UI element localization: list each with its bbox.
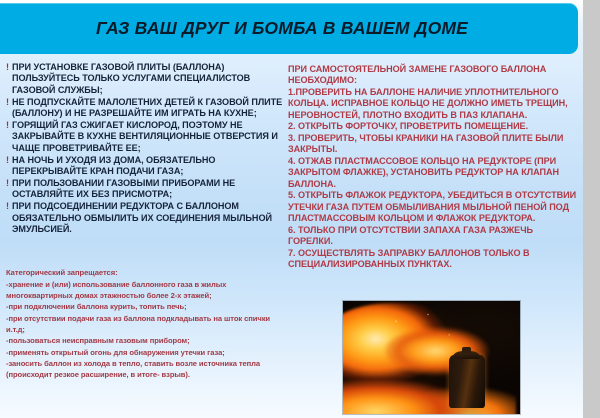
exclamation-bullet-icon: ! <box>6 97 9 108</box>
slide-canvas: ГАЗ ВАШ ДРУГ И БОМБА В ВАШЕМ ДОМЕ !ПРИ У… <box>0 0 583 418</box>
exclamation-bullet-icon: ! <box>6 62 9 73</box>
safety-rule-item: !НЕ ПОДПУСКАЙТЕ МАЛОЛЕТНИХ ДЕТЕЙ К ГАЗОВ… <box>6 97 284 120</box>
prohibition-item: -заносить баллон из холода в тепло, став… <box>6 359 282 381</box>
safety-rule-text: ПРИ ПОЛЬЗОВАНИИ ГАЗОВЫМИ ПРИБОРАМИ НЕ ОС… <box>12 178 235 199</box>
replacement-step-item: 4. ОТЖАВ ПЛАСТМАССОВОЕ КОЛЬЦО НА РЕДУКТО… <box>288 156 578 191</box>
prohibitions-block: Категорический запрещается: -хранение и … <box>6 268 282 381</box>
safety-rule-text: НА НОЧЬ И УХОДЯ ИЗ ДОМА, ОБЯЗАТЕЛЬНО ПЕР… <box>12 155 215 176</box>
photo-glow-overlay <box>343 301 520 414</box>
prohibitions-list: -хранение и (или) использование баллонно… <box>6 280 282 381</box>
prohibition-item: -пользоваться неисправным газовым прибор… <box>6 336 282 347</box>
replacement-step-item: 7. ОСУЩЕСТВЛЯТЬ ЗАПРАВКУ БАЛЛОНОВ ТОЛЬКО… <box>288 248 578 271</box>
slide-right-gutter <box>583 0 600 418</box>
safety-rule-item: !ПРИ ПОДСОЕДИНЕНИИ РЕДУКТОРА С БАЛЛОНОМ … <box>6 201 284 235</box>
replacement-step-item: 6. ТОЛЬКО ПРИ ОТСУТСТВИИ ЗАПАХА ГАЗА РАЗ… <box>288 225 578 248</box>
exclamation-bullet-icon: ! <box>6 155 9 166</box>
prohibition-item: -хранение и (или) использование баллонно… <box>6 280 282 302</box>
safety-rule-item: !НА НОЧЬ И УХОДЯ ИЗ ДОМА, ОБЯЗАТЕЛЬНО ПЕ… <box>6 155 284 178</box>
prohibition-item: -при отсутствии подачи газа из баллона п… <box>6 314 282 336</box>
safety-rule-item: !ГОРЯЩИЙ ГАЗ СЖИГАЕТ КИСЛОРОД, ПОЭТОМУ Н… <box>6 120 284 154</box>
replacement-step-item: 2. ОТКРЫТЬ ФОРТОЧКУ, ПРОВЕТРИТЬ ПОМЕЩЕНИ… <box>288 121 578 133</box>
replacement-step-item: 1.ПРОВЕРИТЬ НА БАЛЛОНЕ НАЛИЧИЕ УПЛОТНИТЕ… <box>288 87 578 122</box>
burning-gas-cylinder-photo <box>343 301 520 414</box>
right-column: ПРИ САМОСТОЯТЕЛЬНОЙ ЗАМЕНЕ ГАЗОВОГО БАЛЛ… <box>288 64 578 271</box>
prohibitions-heading: Категорический запрещается: <box>6 268 282 279</box>
safety-rule-text: ПРИ УСТАНОВКЕ ГАЗОВОЙ ПЛИТЫ (БАЛЛОНА) ПО… <box>12 62 250 95</box>
replacement-step-item: 5. ОТКРЫТЬ ФЛАЖОК РЕДУКТОРА, УБЕДИТЬСЯ В… <box>288 190 578 225</box>
safety-rule-item: !ПРИ УСТАНОВКЕ ГАЗОВОЙ ПЛИТЫ (БАЛЛОНА) П… <box>6 62 284 96</box>
replacement-procedure-heading: ПРИ САМОСТОЯТЕЛЬНОЙ ЗАМЕНЕ ГАЗОВОГО БАЛЛ… <box>288 64 578 87</box>
left-column: !ПРИ УСТАНОВКЕ ГАЗОВОЙ ПЛИТЫ (БАЛЛОНА) П… <box>6 62 284 236</box>
safety-rule-text: ГОРЯЩИЙ ГАЗ СЖИГАЕТ КИСЛОРОД, ПОЭТОМУ НЕ… <box>12 120 278 153</box>
prohibition-item: -применять открытый огонь для обнаружени… <box>6 348 282 359</box>
exclamation-bullet-icon: ! <box>6 120 9 131</box>
replacement-step-item: 3. ПРОВЕРИТЬ, ЧТОБЫ КРАНИКИ НА ГАЗОВОЙ П… <box>288 133 578 156</box>
header-banner: ГАЗ ВАШ ДРУГ И БОМБА В ВАШЕМ ДОМЕ <box>0 3 578 54</box>
exclamation-bullet-icon: ! <box>6 201 9 212</box>
exclamation-bullet-icon: ! <box>6 178 9 189</box>
safety-rule-text: НЕ ПОДПУСКАЙТЕ МАЛОЛЕТНИХ ДЕТЕЙ К ГАЗОВО… <box>12 97 282 118</box>
safety-rule-text: ПРИ ПОДСОЕДИНЕНИИ РЕДУКТОРА С БАЛЛОНОМ О… <box>12 201 272 234</box>
safety-rule-item: !ПРИ ПОЛЬЗОВАНИИ ГАЗОВЫМИ ПРИБОРАМИ НЕ О… <box>6 178 284 201</box>
prohibition-item: -при подключении баллона курить, топить … <box>6 302 282 313</box>
page-title: ГАЗ ВАШ ДРУГ И БОМБА В ВАШЕМ ДОМЕ <box>0 3 578 54</box>
replacement-steps-list: 1.ПРОВЕРИТЬ НА БАЛЛОНЕ НАЛИЧИЕ УПЛОТНИТЕ… <box>288 87 578 271</box>
safety-rules-list: !ПРИ УСТАНОВКЕ ГАЗОВОЙ ПЛИТЫ (БАЛЛОНА) П… <box>6 62 284 236</box>
